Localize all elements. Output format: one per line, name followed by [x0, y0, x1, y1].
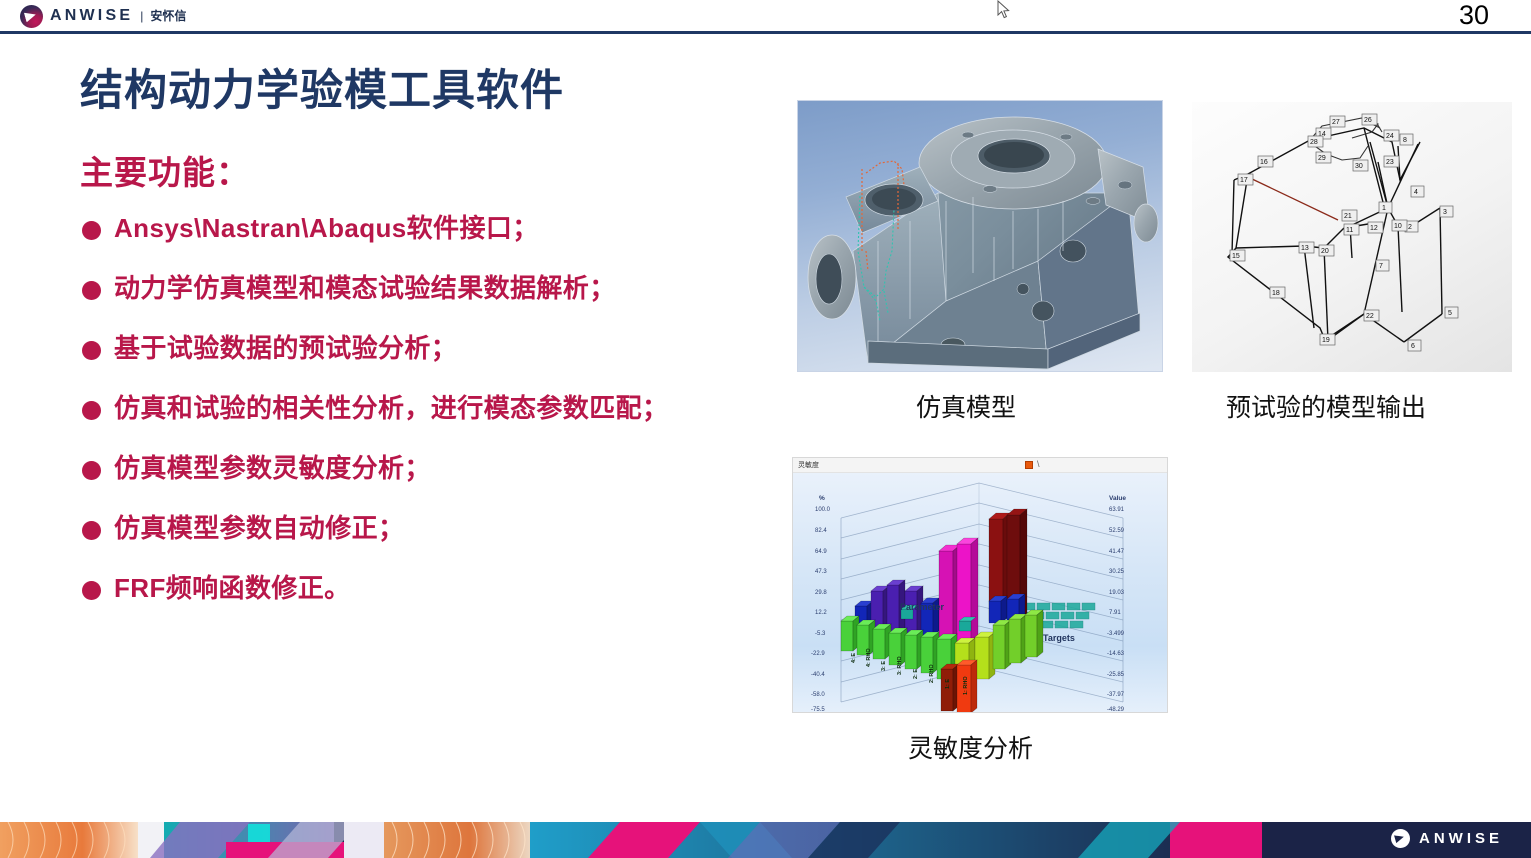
list-item-label: 动力学仿真模型和模态试验结果数据解析； [114, 268, 616, 305]
caption-pretest-output: 预试验的模型输出 [1226, 388, 1426, 424]
bullet-dot-icon [82, 221, 101, 240]
svg-text:29: 29 [1318, 155, 1326, 162]
svg-text:1: 1 [1382, 205, 1386, 212]
svg-text:8: 8 [1403, 137, 1407, 144]
simulation-model-image [797, 100, 1163, 372]
bullet-dot-icon [82, 281, 101, 300]
y2-axis-tick: -48.29 [1107, 707, 1124, 713]
anwise-footer-logo-icon [1391, 829, 1410, 848]
y2-axis-tick: -25.85 [1107, 672, 1124, 678]
y-axis-tick: 100.0 [815, 507, 830, 513]
parameter-tick-label: 4: E [851, 653, 857, 663]
caption-simulation-model: 仿真模型 [916, 388, 1016, 424]
y2-axis-tick: 7.91 [1109, 610, 1121, 616]
y-axis-tick: 29.8 [815, 590, 827, 596]
list-item-label: 仿真模型参数灵敏度分析； [114, 448, 431, 485]
parameter-tick-label: 1: RHO [963, 676, 969, 695]
svg-text:Targets: Targets [1043, 633, 1075, 643]
svg-text:12: 12 [1370, 225, 1378, 232]
page-title: 结构动力学验模工具软件 [80, 56, 564, 118]
chart-titlebar: 灵敏度 \ [793, 458, 1168, 473]
y2-axis-title: Value [1109, 495, 1126, 502]
svg-text:10: 10 [1394, 223, 1402, 230]
section-subtitle: 主要功能： [80, 146, 250, 194]
y-axis-tick: 64.9 [815, 549, 827, 555]
feature-list: Ansys\Nastran\Abaqus软件接口； 动力学仿真模型和模态试验结果… [82, 208, 802, 628]
svg-text:23: 23 [1386, 159, 1394, 166]
pretest-model-output-image: 1 2 3 4 5 6 7 8 10 11 12 13 14 15 16 17 … [1192, 102, 1512, 372]
parameter-tick-label: 2: E [913, 669, 919, 679]
svg-text:Parameter: Parameter [900, 602, 945, 612]
y2-axis-tick: 41.47 [1109, 549, 1124, 555]
svg-text:30: 30 [1355, 163, 1363, 170]
svg-text:4: 4 [1414, 189, 1418, 196]
svg-text:11: 11 [1346, 227, 1353, 234]
parameter-tick-label: 2: RHO [929, 664, 935, 683]
svg-text:26: 26 [1364, 117, 1372, 124]
parameter-tick-label: 4: RHO [866, 648, 872, 667]
brand-logo: ANWISE | 安怀信 [20, 3, 186, 29]
svg-text:5: 5 [1448, 310, 1452, 317]
bullet-dot-icon [82, 521, 101, 540]
bullet-dot-icon [82, 581, 101, 600]
y2-axis-tick: 52.59 [1109, 528, 1124, 534]
svg-text:27: 27 [1332, 119, 1340, 126]
bullet-dot-icon [82, 461, 101, 480]
list-item: Ansys\Nastran\Abaqus软件接口； [82, 208, 802, 268]
svg-text:7: 7 [1379, 263, 1383, 270]
list-item-label: 基于试验数据的预试验分析； [114, 328, 457, 365]
bullet-dot-icon [82, 401, 101, 420]
list-item: 仿真和试验的相关性分析，进行模态参数匹配； [82, 388, 802, 448]
y-axis-tick: 12.2 [815, 610, 827, 616]
y-axis-tick: -75.5 [811, 707, 825, 713]
svg-text:13: 13 [1301, 245, 1309, 252]
list-item-label: FRF频响函数修正。 [114, 568, 351, 605]
page-number: 30 [1459, 1, 1489, 29]
list-item-label: Ansys\Nastran\Abaqus软件接口； [114, 208, 539, 245]
y2-axis-tick: 63.91 [1109, 507, 1124, 513]
svg-text:19: 19 [1322, 337, 1330, 344]
y-axis-title: % [819, 495, 825, 502]
svg-text:24: 24 [1386, 133, 1394, 140]
svg-text:2: 2 [1408, 224, 1412, 231]
list-item: 基于试验数据的预试验分析； [82, 328, 802, 388]
brand-logo-text: ANWISE [50, 8, 133, 24]
y-axis-tick: -58.0 [811, 692, 825, 698]
list-item-label: 仿真和试验的相关性分析，进行模态参数匹配； [114, 388, 668, 425]
y-axis-tick: 47.3 [815, 569, 827, 575]
svg-text:16: 16 [1260, 159, 1268, 166]
y2-axis-tick: 30.25 [1109, 569, 1124, 575]
caption-sensitivity-analysis: 灵敏度分析 [908, 729, 1033, 765]
y-axis-tick: -5.3 [815, 631, 825, 637]
anwise-logo-icon [20, 5, 43, 28]
y-axis-tick: 82.4 [815, 528, 827, 534]
y-axis-tick: -40.4 [811, 672, 825, 678]
parameter-tick-label: 3: E [881, 661, 887, 671]
list-item: FRF频响函数修正。 [82, 568, 802, 628]
svg-text:15: 15 [1232, 253, 1240, 260]
parameter-tick-label: 1: E [945, 679, 951, 689]
stop-square-icon[interactable] [1025, 461, 1033, 469]
brand-logo-separator: | [140, 9, 143, 23]
y-axis-tick: -22.9 [811, 651, 825, 657]
svg-text:21: 21 [1344, 213, 1352, 220]
slide-footer: ANWISE [0, 822, 1531, 858]
svg-text:18: 18 [1272, 290, 1280, 297]
header-divider [0, 31, 1531, 34]
chart-window-title: 灵敏度 [798, 460, 819, 470]
list-item-label: 仿真模型参数自动修正； [114, 508, 404, 545]
parameter-tick-label: 3: RHO [897, 656, 903, 675]
sensitivity-chart-window: 灵敏度 \ [792, 457, 1168, 713]
footer-brand-logo: ANWISE [1391, 829, 1503, 848]
bullet-dot-icon [82, 341, 101, 360]
svg-text:28: 28 [1310, 139, 1318, 146]
svg-text:3: 3 [1443, 209, 1447, 216]
svg-text:22: 22 [1366, 313, 1374, 320]
y2-axis-tick: -14.63 [1107, 651, 1124, 657]
chart-plot-area: Parameter Targets 4: E 4: RHO 3: E 3: RH… [793, 473, 1168, 713]
list-item: 仿真模型参数自动修正； [82, 508, 802, 568]
separator-glyph: \ [1037, 459, 1040, 469]
y2-axis-tick: -37.97 [1107, 692, 1124, 698]
svg-text:6: 6 [1411, 343, 1415, 350]
footer-brand-text: ANWISE [1419, 830, 1503, 847]
svg-text:17: 17 [1240, 177, 1248, 184]
list-item: 仿真模型参数灵敏度分析； [82, 448, 802, 508]
footer-spacer [0, 810, 1531, 822]
y2-axis-tick: -3.499 [1107, 631, 1124, 637]
slide-header: ANWISE | 安怀信 30 [0, 0, 1531, 32]
brand-logo-chinese: 安怀信 [150, 10, 186, 22]
list-item: 动力学仿真模型和模态试验结果数据解析； [82, 268, 802, 328]
svg-text:20: 20 [1321, 248, 1329, 255]
y2-axis-tick: 19.03 [1109, 590, 1124, 596]
